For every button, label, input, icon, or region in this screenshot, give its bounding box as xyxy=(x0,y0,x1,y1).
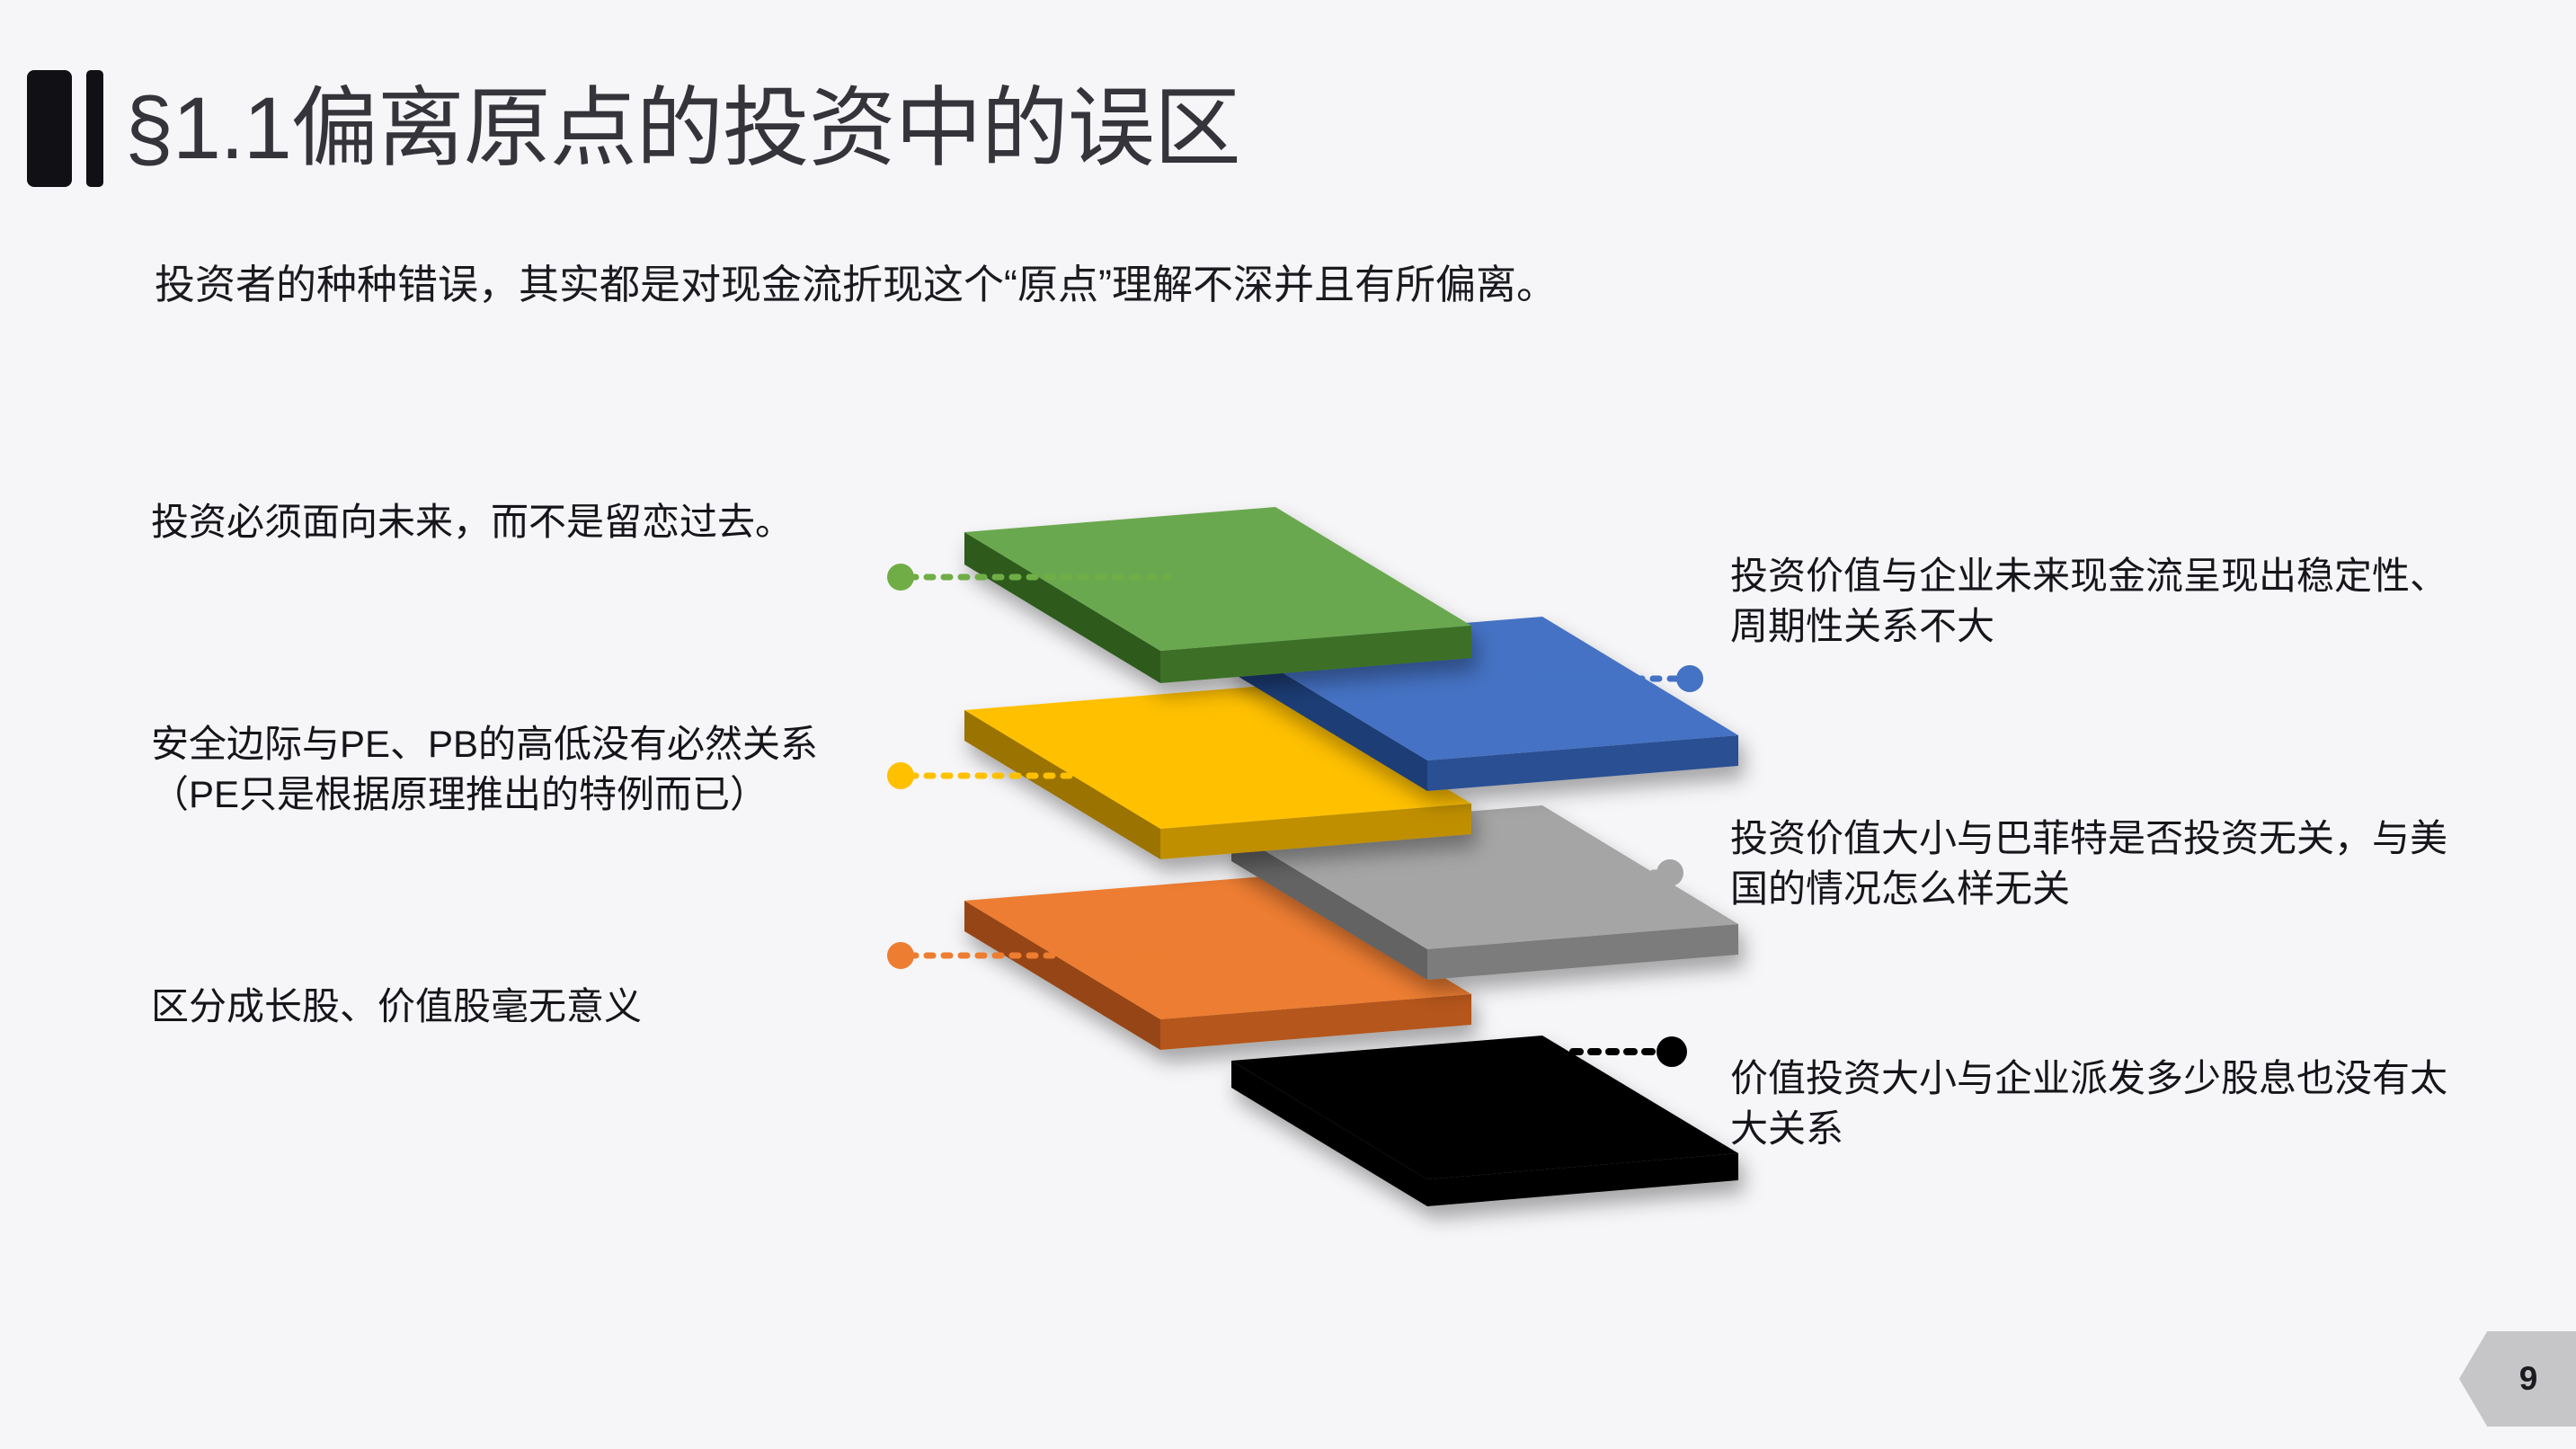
connector-gray-dot-icon xyxy=(1657,859,1683,886)
connector-gray xyxy=(1533,859,1683,886)
callout-left-1: 投资必须面向未来，而不是留恋过去。 xyxy=(151,497,870,547)
green-layer-top-face xyxy=(964,507,1471,651)
yellow-layer xyxy=(964,685,1471,859)
orange-layer xyxy=(964,876,1471,1050)
page-subtitle: 投资者的种种错误，其实都是对现金流折现这个“原点”理解不深并且有所偏离。 xyxy=(155,252,1557,310)
orange-layer-front-face xyxy=(1160,994,1471,1050)
connector-yellow-dot-icon xyxy=(887,762,914,789)
gray-layer xyxy=(1231,805,1738,980)
page-title: §1.1偏离原点的投资中的误区 xyxy=(125,83,1240,174)
orange-layer-left-face xyxy=(964,901,1160,1050)
blue-layer-top-face xyxy=(1231,617,1738,760)
yellow-layer-front-face xyxy=(1160,804,1471,859)
gray-layer-top-face xyxy=(1231,805,1738,949)
title-block: §1.1偏离原点的投资中的误区 xyxy=(27,70,1240,187)
black-layer-top-face xyxy=(1231,1036,1738,1179)
connector-orange-dot-icon xyxy=(887,942,914,969)
connector-orange xyxy=(887,942,1177,969)
gray-layer-left-face xyxy=(1231,831,1427,980)
black-layer xyxy=(1231,1036,1738,1206)
slide-canvas: §1.1偏离原点的投资中的误区 投资者的种种错误，其实都是对现金流折现这个“原点… xyxy=(0,0,2576,1449)
title-accent-bar-wide-icon xyxy=(27,70,72,187)
blue-layer-left-face xyxy=(1231,642,1427,791)
connector-black xyxy=(1519,1036,1687,1067)
gray-layer-front-face xyxy=(1427,924,1738,980)
connector-black-dot-icon xyxy=(1657,1036,1687,1067)
connector-green xyxy=(887,564,1168,591)
connector-blue xyxy=(1533,665,1703,692)
title-accent-bar-narrow-icon xyxy=(86,70,103,187)
page-number-text: 9 xyxy=(2498,1360,2538,1398)
blue-layer-front-face xyxy=(1427,735,1738,791)
connector-yellow xyxy=(887,762,1168,789)
callout-left-3: 区分成长股、价值股毫无意义 xyxy=(151,982,870,1032)
blue-layer xyxy=(1231,617,1738,791)
callout-left-2: 安全边际与PE、PB的高低没有必然关系（PE只是根据原理推出的特例而已） xyxy=(151,719,834,820)
green-layer xyxy=(964,507,1471,683)
green-layer-front-face xyxy=(1160,626,1471,683)
orange-layer-top-face xyxy=(964,876,1471,1019)
green-layer-left-face xyxy=(964,532,1160,683)
connector-green-dot-icon xyxy=(887,564,914,591)
callout-right-3: 价值投资大小与企业派发多少股息也没有太大关系 xyxy=(1730,1053,2449,1154)
yellow-layer-top-face xyxy=(964,685,1471,829)
callout-right-1: 投资价值与企业未来现金流呈现出稳定性、周期性关系不大 xyxy=(1730,551,2449,652)
page-number-badge: 9 xyxy=(2459,1331,2576,1427)
black-layer-left-face xyxy=(1231,1061,1427,1206)
connector-blue-dot-icon xyxy=(1676,665,1703,692)
yellow-layer-left-face xyxy=(964,710,1160,859)
callout-right-2: 投资价值大小与巴菲特是否投资无关，与美国的情况怎么样无关 xyxy=(1730,813,2449,914)
black-layer-front-face xyxy=(1427,1153,1738,1206)
